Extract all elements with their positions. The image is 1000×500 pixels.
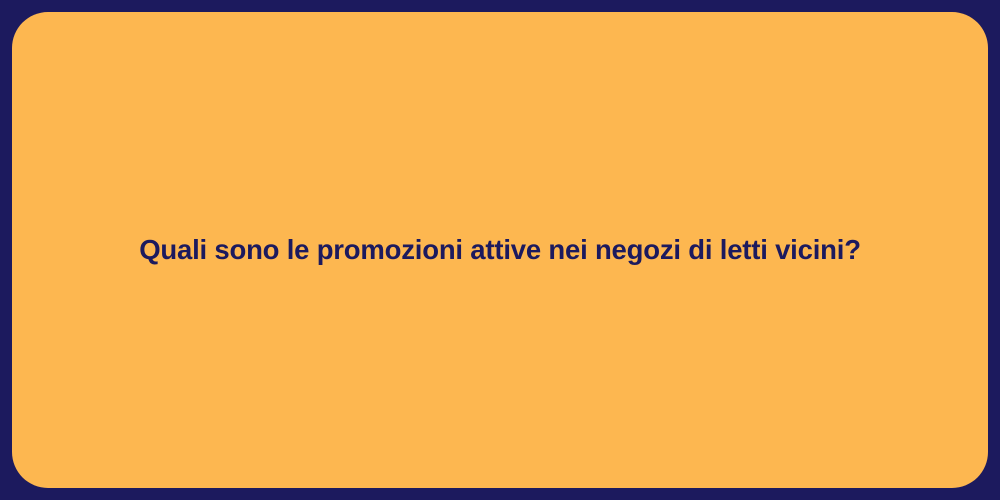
headline-card: Quali sono le promozioni attive nei nego…	[12, 12, 988, 488]
page-title: Quali sono le promozioni attive nei nego…	[139, 233, 861, 267]
page-frame: Quali sono le promozioni attive nei nego…	[0, 0, 1000, 500]
